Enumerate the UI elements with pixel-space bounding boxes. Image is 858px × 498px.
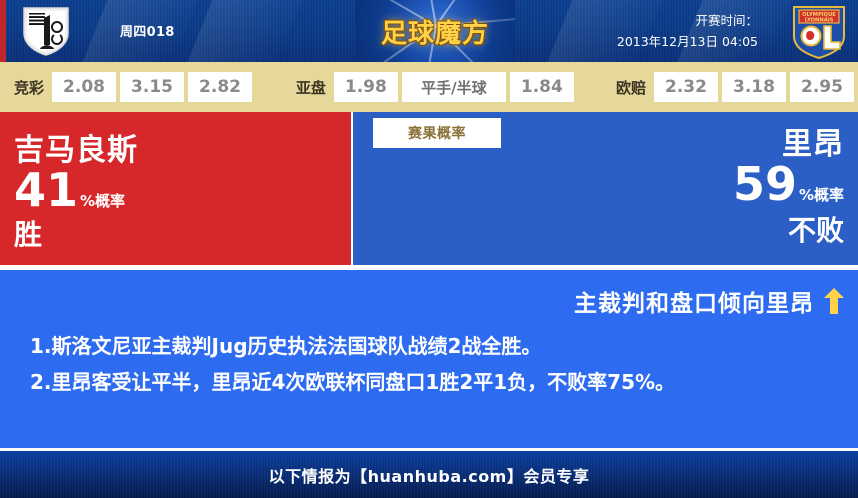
home-result-label: 胜 [14,220,42,250]
away-probability-value: 59 %概率 [733,162,844,206]
odds-cell[interactable]: 3.18 [722,72,786,102]
svg-text:LYONNAIS: LYONNAIS [805,17,834,23]
odds-bar: 竞彩 2.08 3.15 2.82 亚盘 1.98 平手/半球 1.84 欧赔 … [0,62,858,112]
header-red-edge [0,0,6,62]
vitoria-guimaraes-crest-icon [20,5,72,57]
odds-cell[interactable]: 1.98 [334,72,398,102]
home-probability-panel: 吉马良斯 41 %概率 胜 [0,112,351,265]
header-bar: 周四018 足球魔方 开赛时间： 2013年12月13日 04:05 OLYMP… [0,0,858,62]
home-probability-number: 41 [14,168,78,212]
kickoff-value: 2013年12月13日 04:05 [617,31,758,52]
analysis-item: 2.里昂客受让平半，里昂近4次欧联杯同盘口1胜2平1负，不败率75%。 [30,364,830,400]
analysis-section: 主裁判和盘口倾向里昂 1.斯洛文尼亚主裁判Jug历史执法法国球队战绩2战全胜。 … [0,270,858,448]
away-result-label: 不败 [788,216,844,246]
tab-result-probability[interactable]: 赛果概率 [373,118,501,148]
odds-group-label: 竞彩 [14,77,44,98]
footer-bar: 以下情报为【huanhuba.com】会员专享 [0,451,858,498]
olympique-lyonnais-crest-icon: OLYMPIQUE LYONNAIS [790,4,848,60]
odds-group-label: 亚盘 [296,77,326,98]
home-probability-unit: %概率 [80,190,125,212]
up-arrow-icon [824,288,844,314]
analysis-item-list: 1.斯洛文尼亚主裁判Jug历史执法法国球队战绩2战全胜。 2.里昂客受让平半，里… [30,328,830,400]
odds-cell[interactable]: 1.84 [510,72,574,102]
match-round-label: 周四018 [120,21,175,40]
away-probability-number: 59 [733,162,797,206]
odds-cell[interactable]: 2.32 [654,72,718,102]
odds-cell[interactable]: 2.08 [52,72,116,102]
footer-text: 以下情报为【huanhuba.com】会员专享 [269,463,590,487]
away-probability-unit: %概率 [799,184,844,206]
brand-logo: 足球魔方 [355,0,515,62]
odds-group-jingcai: 竞彩 2.08 3.15 2.82 [6,72,256,102]
header-diagonal-shine-2 [187,0,302,62]
kickoff-label: 开赛时间： [617,10,758,31]
tab-result-probability-label: 赛果概率 [408,123,466,143]
analysis-heading: 主裁判和盘口倾向里昂 [574,284,844,318]
odds-group-yapan: 亚盘 1.98 平手/半球 1.84 [288,72,578,102]
odds-cell[interactable]: 2.82 [188,72,252,102]
odds-group-label: 欧赔 [616,77,646,98]
brand-logo-text: 足球魔方 [381,13,489,50]
odds-group-oupei: 欧赔 2.32 3.18 2.95 [608,72,858,102]
odds-cell-handicap[interactable]: 平手/半球 [402,72,506,102]
home-probability-value: 41 %概率 [14,168,125,212]
kickoff-time-block: 开赛时间： 2013年12月13日 04:05 [617,10,758,52]
analysis-heading-text: 主裁判和盘口倾向里昂 [574,284,814,318]
analysis-item: 1.斯洛文尼亚主裁判Jug历史执法法国球队战绩2战全胜。 [30,328,830,364]
odds-cell[interactable]: 3.15 [120,72,184,102]
odds-cell[interactable]: 2.95 [790,72,854,102]
match-preview-card: 周四018 足球魔方 开赛时间： 2013年12月13日 04:05 OLYMP… [0,0,858,498]
